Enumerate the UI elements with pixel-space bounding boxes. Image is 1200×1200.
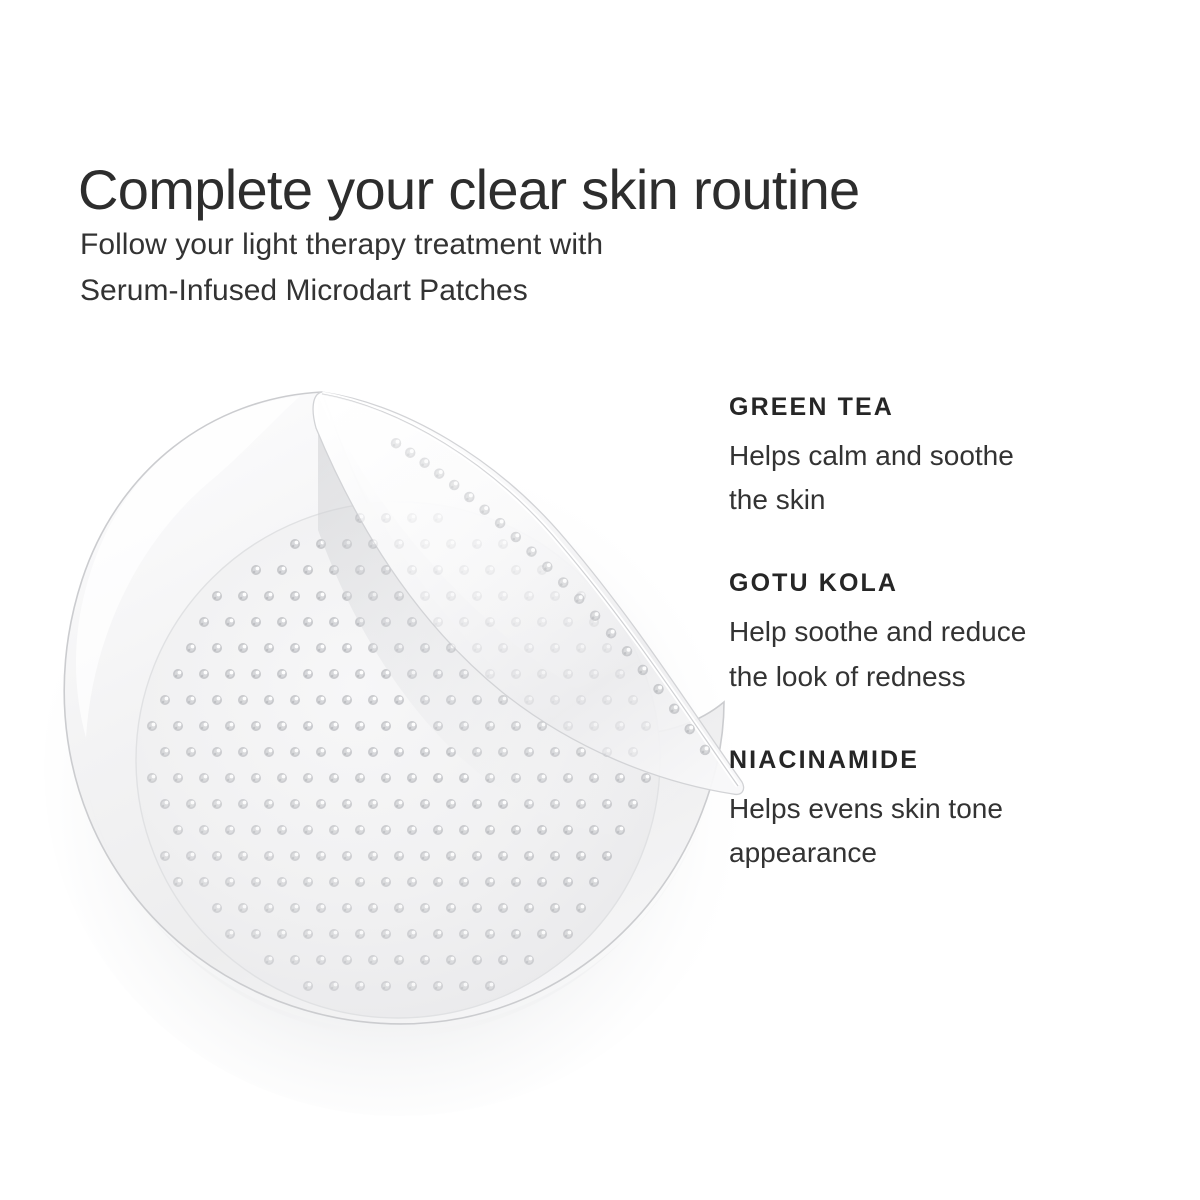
ingredient-description: Helps calm and soothe the skin (729, 434, 1119, 522)
ingredient-item-niacinamide: NIACINAMIDE Helps evens skin tone appear… (729, 745, 1119, 875)
ingredient-name: GOTU KOLA (729, 568, 1119, 598)
ingredient-description-line-2: the skin (729, 478, 1119, 522)
ingredient-description-line-2: the look of redness (729, 655, 1119, 699)
ingredient-description: Helps evens skin tone appearance (729, 787, 1119, 875)
ingredient-list: GREEN TEA Helps calm and soothe the skin… (729, 392, 1119, 875)
ingredient-name: GREEN TEA (729, 392, 1119, 422)
ingredient-description-line-1: Help soothe and reduce (729, 610, 1119, 654)
microdart-patch-icon (0, 330, 820, 1160)
product-image-microdart-patch (0, 330, 820, 1160)
subtitle-line-1: Follow your light therapy treatment with (80, 222, 603, 268)
ingredient-description-line-1: Helps evens skin tone (729, 787, 1119, 831)
ingredient-description-line-2: appearance (729, 831, 1119, 875)
ingredient-description-line-1: Helps calm and soothe (729, 434, 1119, 478)
ingredient-description: Help soothe and reduce the look of redne… (729, 610, 1119, 698)
page-subtitle: Follow your light therapy treatment with… (80, 222, 603, 313)
page-title: Complete your clear skin routine (78, 160, 860, 220)
subtitle-line-2: Serum-Infused Microdart Patches (80, 268, 603, 314)
page-root: Complete your clear skin routine Follow … (0, 0, 1200, 1200)
ingredient-item-green-tea: GREEN TEA Helps calm and soothe the skin (729, 392, 1119, 522)
ingredient-name: NIACINAMIDE (729, 745, 1119, 775)
ingredient-item-gotu-kola: GOTU KOLA Help soothe and reduce the loo… (729, 568, 1119, 698)
